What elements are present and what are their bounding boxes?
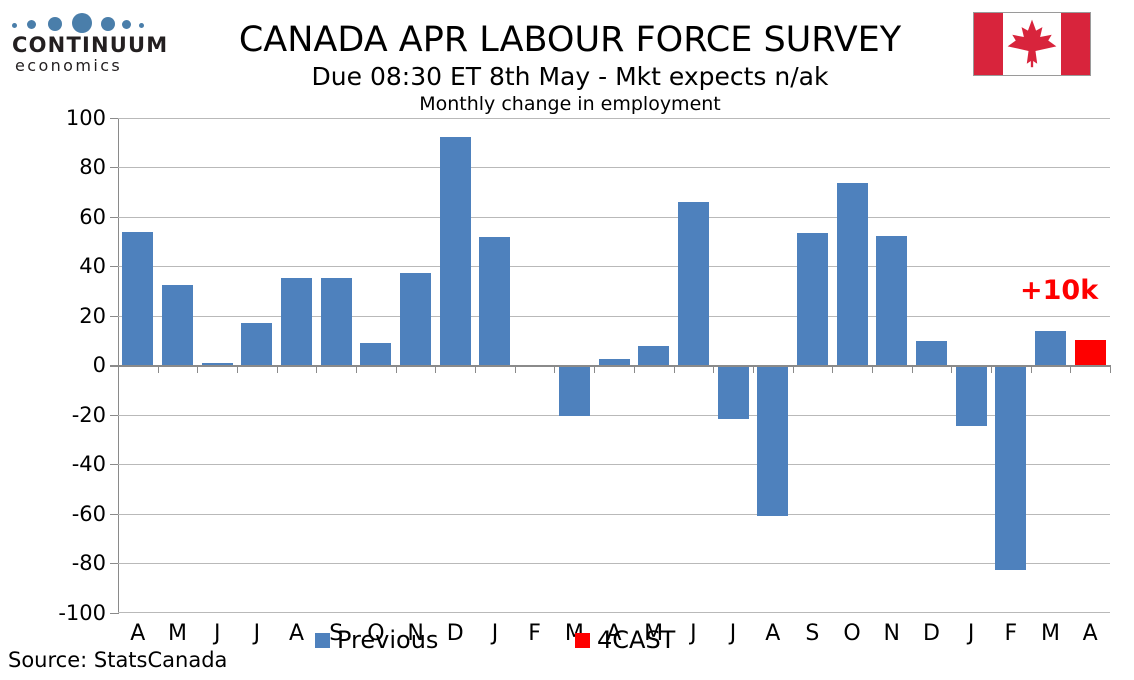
y-axis-tick bbox=[110, 514, 118, 515]
page-subtitle: Due 08:30 ET 8th May - Mkt expects n/ak bbox=[180, 62, 960, 92]
gridline bbox=[118, 167, 1110, 168]
bar-previous-J-21 bbox=[956, 365, 987, 426]
x-axis-tick bbox=[197, 365, 198, 373]
plot-area bbox=[118, 118, 1110, 613]
x-axis-tick bbox=[634, 365, 635, 373]
logo-dot-6 bbox=[122, 20, 131, 29]
bar-previous-N-19 bbox=[876, 236, 907, 365]
y-axis-tick bbox=[110, 167, 118, 168]
logo-dot-7 bbox=[139, 23, 144, 28]
y-tick-label: -80 bbox=[36, 553, 106, 574]
x-axis-tick bbox=[753, 365, 754, 373]
y-tick-label: 20 bbox=[36, 306, 106, 327]
x-axis-tick bbox=[912, 365, 913, 373]
source-note: Source: StatsCanada bbox=[8, 648, 227, 672]
logo-dot-5 bbox=[101, 17, 115, 31]
y-tick-label: -60 bbox=[36, 504, 106, 525]
bar-previous-J-9 bbox=[479, 237, 510, 365]
x-axis-tick bbox=[475, 365, 476, 373]
bar-previous-O-6 bbox=[360, 343, 391, 365]
title-block: CANADA APR LABOUR FORCE SURVEY Due 08:30… bbox=[180, 0, 960, 116]
y-tick-label: 80 bbox=[36, 157, 106, 178]
gridline bbox=[118, 464, 1110, 465]
bar-previous-M-23 bbox=[1035, 331, 1066, 365]
x-axis-tick bbox=[277, 365, 278, 373]
bar-previous-A-0 bbox=[122, 232, 153, 365]
y-axis-tick bbox=[110, 464, 118, 465]
y-tick-label: -100 bbox=[36, 603, 106, 624]
legend-swatch-previous bbox=[315, 633, 330, 648]
x-axis-tick bbox=[396, 365, 397, 373]
bar-previous-S-17 bbox=[797, 233, 828, 365]
bar-previous-D-20 bbox=[916, 341, 947, 365]
y-axis-tick bbox=[110, 118, 118, 119]
x-axis-tick bbox=[435, 365, 436, 373]
y-tick-label: -40 bbox=[36, 454, 106, 475]
x-axis-tick bbox=[713, 365, 714, 373]
gridline bbox=[118, 563, 1110, 564]
x-axis-tick bbox=[991, 365, 992, 373]
bar-4cast-A-24 bbox=[1075, 340, 1106, 365]
bar-previous-A-16 bbox=[757, 365, 788, 516]
forecast-value-annotation: +10k bbox=[1020, 275, 1098, 306]
y-axis-tick bbox=[110, 316, 118, 317]
bar-chart: 100 80 60 40 20 0 -20 -40 -60 -80 -100 A… bbox=[0, 100, 1134, 645]
y-axis-tick bbox=[110, 217, 118, 218]
legend-label-previous: Previous bbox=[337, 627, 438, 653]
logo-dots bbox=[12, 8, 147, 34]
y-tick-label: 0 bbox=[36, 355, 106, 376]
legend-swatch-4cast bbox=[575, 633, 590, 648]
bar-previous-A-4 bbox=[281, 278, 312, 365]
legend-item-4cast: 4CAST bbox=[575, 625, 675, 655]
flag-band-right bbox=[1061, 13, 1090, 75]
gridline bbox=[118, 514, 1110, 515]
canada-flag-icon bbox=[973, 12, 1091, 76]
y-axis-tick bbox=[110, 415, 118, 416]
gridline bbox=[118, 217, 1110, 218]
legend-label-4cast: 4CAST bbox=[597, 627, 675, 653]
legend-item-previous: Previous bbox=[315, 625, 438, 655]
plot-bottom-border bbox=[118, 612, 1110, 613]
x-axis-tick bbox=[872, 365, 873, 373]
bar-previous-J-15 bbox=[718, 365, 749, 419]
logo-wordmark-secondary: economics bbox=[15, 56, 153, 76]
bar-previous-D-8 bbox=[440, 137, 471, 365]
x-axis-tick bbox=[832, 365, 833, 373]
page-title: CANADA APR LABOUR FORCE SURVEY bbox=[180, 0, 960, 62]
continuum-economics-logo: CONTINUUM economics bbox=[8, 8, 153, 88]
y-axis-tick bbox=[110, 563, 118, 564]
gridline bbox=[118, 316, 1110, 317]
x-axis-tick bbox=[237, 365, 238, 373]
flag-band-left bbox=[974, 13, 1003, 75]
y-axis-tick bbox=[110, 613, 118, 614]
y-tick-label: 60 bbox=[36, 207, 106, 228]
logo-dot-1 bbox=[12, 23, 17, 28]
x-axis-tick bbox=[793, 365, 794, 373]
y-axis-tick bbox=[110, 266, 118, 267]
bar-previous-J-14 bbox=[678, 202, 709, 365]
y-tick-label: 100 bbox=[36, 108, 106, 129]
chart-header: CONTINUUM economics CANADA APR LABOUR FO… bbox=[0, 0, 1134, 100]
x-axis-tick bbox=[1031, 365, 1032, 373]
x-axis-tick bbox=[674, 365, 675, 373]
x-axis-tick bbox=[594, 365, 595, 373]
x-axis-tick bbox=[1110, 365, 1111, 373]
bar-previous-O-18 bbox=[837, 183, 868, 365]
y-axis-labels: 100 80 60 40 20 0 -20 -40 -60 -80 -100 bbox=[22, 100, 106, 645]
bar-previous-M-13 bbox=[638, 346, 669, 365]
bar-previous-N-7 bbox=[400, 273, 431, 365]
x-axis-tick bbox=[554, 365, 555, 373]
x-axis-tick bbox=[316, 365, 317, 373]
x-axis-tick bbox=[158, 365, 159, 373]
x-axis-tick bbox=[118, 365, 119, 373]
zero-axis-line bbox=[110, 365, 1110, 367]
bar-previous-J-3 bbox=[241, 323, 272, 365]
logo-dot-3 bbox=[48, 17, 62, 31]
logo-dot-4 bbox=[72, 13, 92, 33]
y-tick-label: 40 bbox=[36, 256, 106, 277]
plot-top-border bbox=[118, 118, 1110, 119]
maple-leaf-icon bbox=[1003, 13, 1061, 75]
bar-previous-S-5 bbox=[321, 278, 352, 365]
gridline bbox=[118, 266, 1110, 267]
bar-previous-F-22 bbox=[995, 365, 1026, 570]
logo-wordmark-primary: CONTINUUM bbox=[12, 34, 153, 56]
logo-dot-2 bbox=[27, 20, 36, 29]
x-axis-tick bbox=[356, 365, 357, 373]
y-tick-label: -20 bbox=[36, 405, 106, 426]
x-axis-tick bbox=[1070, 365, 1071, 373]
bar-previous-M-11 bbox=[559, 365, 590, 416]
x-axis-tick bbox=[515, 365, 516, 373]
x-axis-tick bbox=[951, 365, 952, 373]
bar-previous-M-1 bbox=[162, 285, 193, 365]
